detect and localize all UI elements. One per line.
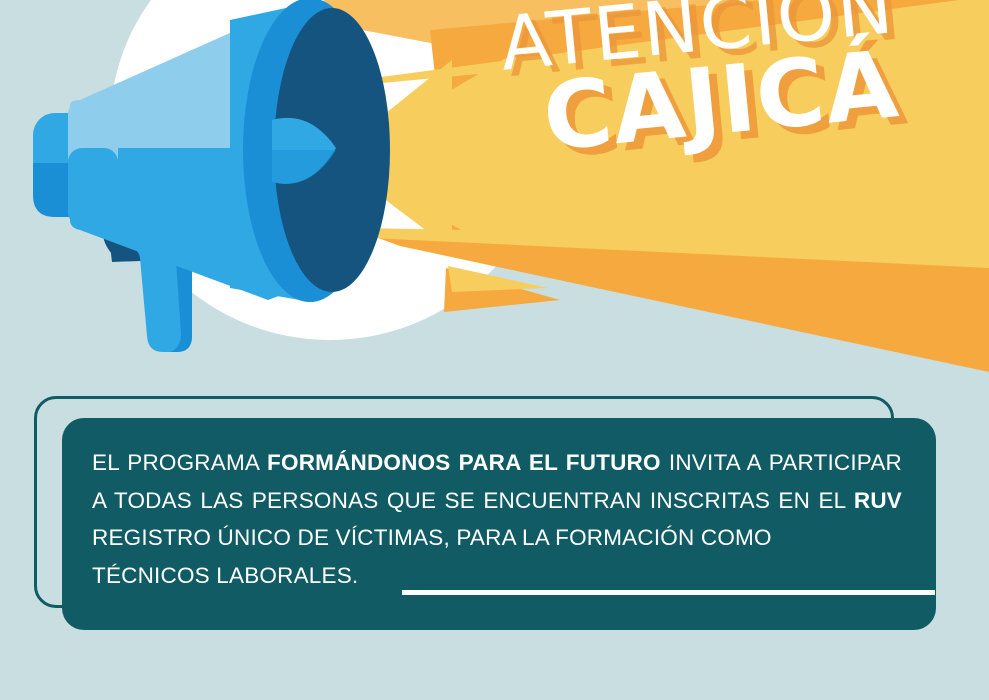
callout-paragraph: EL PROGRAMA FORMÁNDONOS PARA EL FUTURO I…: [92, 444, 902, 594]
callout-last-line: TÉCNICOS LABORALES.: [92, 557, 902, 595]
callout-seg-0: EL PROGRAMA: [92, 450, 267, 475]
callout-panel: EL PROGRAMA FORMÁNDONOS PARA EL FUTURO I…: [62, 418, 936, 630]
megaphone-body-cap-lower: [68, 148, 118, 226]
poster-canvas: ATENCIÓN CAJICÁ EL PROGRAMA FORMÁNDONOS …: [0, 0, 989, 700]
callout-underline-rule: [402, 590, 935, 595]
callout-seg-3-bold: RUV: [854, 488, 902, 513]
callout-seg-1-bold: FORMÁNDONOS PARA EL FUTURO: [267, 450, 661, 475]
callout-seg-4: REGISTRO ÚNICO DE VÍCTIMAS, PARA LA FORM…: [92, 525, 772, 550]
